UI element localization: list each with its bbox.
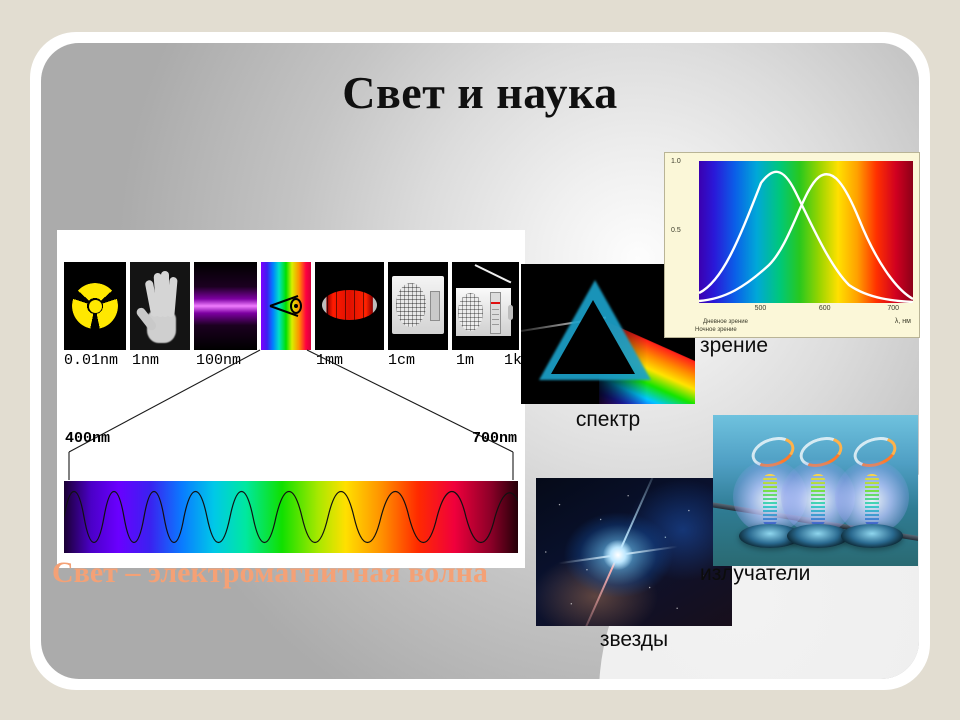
- infrared-heater-icon: [315, 262, 384, 350]
- x-tick-label: 700: [887, 305, 899, 312]
- legend-entry: Дневное зрение: [703, 319, 748, 325]
- x-tick-label: 600: [819, 305, 831, 312]
- x-tick-label: 500: [755, 305, 767, 312]
- radio-receiver-icon: [452, 262, 519, 350]
- wave-overlay: [64, 481, 518, 553]
- scale-label: 1m: [456, 352, 474, 369]
- radiation-icon: [64, 262, 126, 350]
- em-scale-labels: 0.01nm 1nm 100nm 1mm 1cm 1m 1km: [64, 352, 524, 374]
- scale-label: 0.01nm: [64, 352, 118, 369]
- visible-range-right-label: 700nm: [472, 430, 517, 447]
- emitters-label: излучатели: [700, 562, 940, 586]
- x-axis-label: λ, нм: [895, 318, 911, 325]
- vision-sensitivity-chart: 1.0 0.5 500 600 700 λ, нм Дневное зрение…: [664, 152, 920, 338]
- scale-label: 1mm: [316, 352, 343, 369]
- y-tick-label: 0.5: [671, 227, 681, 234]
- visible-eye-icon: [261, 262, 311, 350]
- presentation-slide: Свет и наука: [0, 0, 960, 720]
- light-emitters-image: [713, 415, 918, 566]
- legend-entry: Ночное зрение: [695, 327, 737, 333]
- em-band-icons: [64, 262, 519, 350]
- slide-caption: Свет – электромагнитная волна: [52, 556, 552, 590]
- scale-label: 1cm: [388, 352, 415, 369]
- y-tick-label: 1.0: [671, 158, 681, 165]
- vision-curves: [699, 161, 913, 303]
- electromagnetic-spectrum-panel: 0.01nm 1nm 100nm 1mm 1cm 1m 1km 400nm 70…: [57, 230, 525, 568]
- vision-chart-plot-area: [699, 161, 913, 303]
- visible-spectrum-bar: [64, 481, 518, 553]
- x-tick-labels: 500 600 700: [699, 305, 913, 315]
- vision-label: зрение: [700, 334, 900, 358]
- stars-label: звезды: [536, 628, 732, 652]
- microwave-dish-icon: [388, 262, 448, 350]
- spectrum-label: спектр: [521, 408, 695, 432]
- ultraviolet-beam-icon: [194, 262, 257, 350]
- scale-label: 100nm: [196, 352, 241, 369]
- scale-label: 1nm: [132, 352, 159, 369]
- xray-hand-icon: [130, 262, 190, 350]
- star-field-image: [536, 478, 732, 626]
- eye-glyph-icon: [268, 294, 304, 318]
- page-title: Свет и наука: [0, 66, 960, 119]
- visible-range-left-label: 400nm: [65, 430, 110, 447]
